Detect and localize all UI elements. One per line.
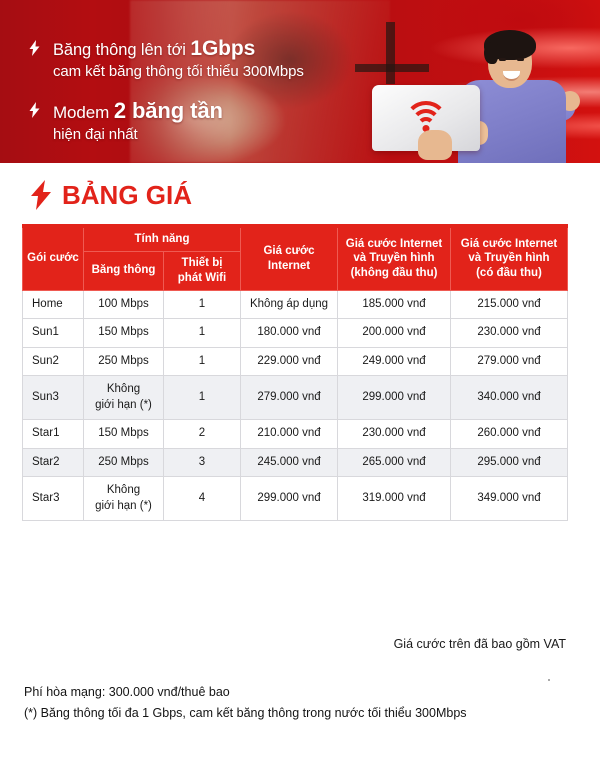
artifact-speck xyxy=(548,679,550,681)
cell-package: Sun1 xyxy=(23,319,84,348)
cell-combo-with-receiver: 215.000 vnđ xyxy=(451,290,568,319)
banner-bullet-2: Modem 2 băng tần hiện đại nhất xyxy=(28,98,358,145)
cell-combo-no-receiver: 299.000 vnđ xyxy=(338,376,451,420)
banner-bullet-2-prefix: Modem xyxy=(53,103,114,122)
cell-bandwidth-line1: 250 Mbps xyxy=(98,456,149,468)
table-row: Sun2250 Mbps1229.000 vnđ249.000 vnđ279.0… xyxy=(23,347,568,376)
column-header-features-group: Tính năng xyxy=(84,226,241,251)
combo-with-receiver-line2: và Truyền hình xyxy=(468,252,549,264)
window-frame-decoration xyxy=(355,22,429,84)
table-row: Star3Khônggiới hạn (*)4299.000 vnđ319.00… xyxy=(23,477,568,521)
column-header-internet-price: Giá cước Internet xyxy=(241,226,338,290)
price-table-body: Home100 Mbps1Không áp dụng185.000 vnđ215… xyxy=(23,290,568,521)
table-row: Star1150 Mbps2210.000 vnđ230.000 vnđ260.… xyxy=(23,420,568,449)
cell-combo-no-receiver: 249.000 vnđ xyxy=(338,347,451,376)
cell-bandwidth: Khônggiới hạn (*) xyxy=(84,477,164,521)
cell-internet-price: 229.000 vnđ xyxy=(241,347,338,376)
table-row: Star2250 Mbps3245.000 vnđ265.000 vnđ295.… xyxy=(23,448,568,477)
banner-bullet-1-prefix: Băng thông lên tới xyxy=(53,41,190,59)
combo-with-receiver-line3: (có đầu thu) xyxy=(476,267,542,279)
cell-internet-price: Không áp dụng xyxy=(241,290,338,319)
cell-combo-no-receiver: 200.000 vnđ xyxy=(338,319,451,348)
price-table-head: Gói cước Tính năng Giá cước Internet Giá… xyxy=(23,226,568,290)
cell-combo-no-receiver: 319.000 vnđ xyxy=(338,477,451,521)
cell-combo-with-receiver: 260.000 vnđ xyxy=(451,420,568,449)
combo-no-receiver-line3: (không đầu thu) xyxy=(351,267,438,279)
column-header-combo-with-receiver: Giá cước Internet và Truyền hình (có đầu… xyxy=(451,226,568,290)
lightning-bolt-icon xyxy=(28,102,40,122)
banner-bullet-1-highlight: 1Gbps xyxy=(190,37,255,60)
column-header-wifi-device-line1: Thiết bị xyxy=(182,257,223,269)
cell-bandwidth: 100 Mbps xyxy=(84,290,164,319)
cell-wifi-device: 1 xyxy=(164,319,241,348)
combo-with-receiver-line1: Giá cước Internet xyxy=(461,238,557,250)
cell-bandwidth-line2: giới hạn (*) xyxy=(95,500,152,512)
column-header-wifi-device-line2: phát Wifi xyxy=(178,272,226,284)
combo-no-receiver-line1: Giá cước Internet xyxy=(346,238,442,250)
column-header-internet-price-line1: Giá cước xyxy=(263,245,314,257)
banner-bullet-2-subtext: hiện đại nhất xyxy=(53,125,358,145)
combo-no-receiver-line2: và Truyền hình xyxy=(353,252,434,264)
cell-combo-with-receiver: 295.000 vnđ xyxy=(451,448,568,477)
cell-internet-price: 210.000 vnđ xyxy=(241,420,338,449)
column-header-bandwidth: Băng thông xyxy=(84,251,164,290)
wifi-icon xyxy=(406,101,446,133)
cell-combo-with-receiver: 340.000 vnđ xyxy=(451,376,568,420)
cell-combo-no-receiver: 265.000 vnđ xyxy=(338,448,451,477)
cell-combo-with-receiver: 279.000 vnđ xyxy=(451,347,568,376)
table-row: Sun3Khônggiới hạn (*)1279.000 vnđ299.000… xyxy=(23,376,568,420)
left-hand xyxy=(418,130,452,160)
cell-combo-no-receiver: 185.000 vnđ xyxy=(338,290,451,319)
cell-bandwidth-line1: 150 Mbps xyxy=(98,427,149,439)
hero-banner: Băng thông lên tới 1Gbps cam kết băng th… xyxy=(0,0,600,163)
cell-bandwidth: 250 Mbps xyxy=(84,347,164,376)
cell-combo-with-receiver: 349.000 vnđ xyxy=(451,477,568,521)
cell-internet-price: 279.000 vnđ xyxy=(241,376,338,420)
cell-wifi-device: 1 xyxy=(164,376,241,420)
cell-wifi-device: 4 xyxy=(164,477,241,521)
cell-combo-no-receiver: 230.000 vnđ xyxy=(338,420,451,449)
banner-bullet-1: Băng thông lên tới 1Gbps cam kết băng th… xyxy=(28,36,358,82)
table-row: Sun1150 Mbps1180.000 vnđ200.000 vnđ230.0… xyxy=(23,319,568,348)
cell-package: Star2 xyxy=(23,448,84,477)
cell-bandwidth: 250 Mbps xyxy=(84,448,164,477)
cell-bandwidth-line1: Không xyxy=(107,383,140,395)
column-header-combo-no-receiver: Giá cước Internet và Truyền hình (không … xyxy=(338,226,451,290)
cell-internet-price: 180.000 vnđ xyxy=(241,319,338,348)
page-title: BẢNG GIÁ xyxy=(30,177,192,213)
price-table: Gói cước Tính năng Giá cước Internet Giá… xyxy=(22,224,568,521)
cell-bandwidth: 150 Mbps xyxy=(84,319,164,348)
vat-note: Giá cước trên đã bao gồm VAT xyxy=(394,637,566,651)
lightning-bolt-icon xyxy=(30,180,52,210)
page-title-text: BẢNG GIÁ xyxy=(62,180,192,211)
cell-package: Star1 xyxy=(23,420,84,449)
cell-wifi-device: 1 xyxy=(164,347,241,376)
cell-package: Sun2 xyxy=(23,347,84,376)
cell-bandwidth: 150 Mbps xyxy=(84,420,164,449)
footer-note-bandwidth-asterisk: (*) Băng thông tối đa 1 Gbps, cam kết bă… xyxy=(24,703,467,724)
cell-combo-with-receiver: 230.000 vnđ xyxy=(451,319,568,348)
banner-text-block: Băng thông lên tới 1Gbps cam kết băng th… xyxy=(28,36,358,161)
column-header-package: Gói cước xyxy=(23,226,84,290)
footer-note-installation-fee: Phí hòa mạng: 300.000 vnđ/thuê bao xyxy=(24,682,467,703)
cell-bandwidth-line1: 100 Mbps xyxy=(98,298,149,310)
cell-internet-price: 245.000 vnđ xyxy=(241,448,338,477)
banner-bullet-1-subtext: cam kết băng thông tối thiểu 300Mbps xyxy=(53,62,358,82)
cell-bandwidth: Khônggiới hạn (*) xyxy=(84,376,164,420)
cell-bandwidth-line2: giới hạn (*) xyxy=(95,399,152,411)
table-header-row-1: Gói cước Tính năng Giá cước Internet Giá… xyxy=(23,226,568,251)
cell-package: Sun3 xyxy=(23,376,84,420)
cell-package: Home xyxy=(23,290,84,319)
lightning-bolt-icon xyxy=(28,40,40,60)
cell-bandwidth-line1: 250 Mbps xyxy=(98,355,149,367)
price-table-container: Gói cước Tính năng Giá cước Internet Giá… xyxy=(22,224,567,521)
cell-package: Star3 xyxy=(23,477,84,521)
column-header-wifi-device: Thiết bị phát Wifi xyxy=(164,251,241,290)
cell-bandwidth-line1: 150 Mbps xyxy=(98,326,149,338)
cell-wifi-device: 2 xyxy=(164,420,241,449)
cell-wifi-device: 3 xyxy=(164,448,241,477)
footer-notes: Phí hòa mạng: 300.000 vnđ/thuê bao (*) B… xyxy=(24,682,467,723)
cell-wifi-device: 1 xyxy=(164,290,241,319)
cell-internet-price: 299.000 vnđ xyxy=(241,477,338,521)
column-header-internet-price-line2: Internet xyxy=(268,260,310,272)
banner-bullet-2-highlight: 2 băng tần xyxy=(114,98,223,123)
cell-bandwidth-line1: Không xyxy=(107,484,140,496)
table-row: Home100 Mbps1Không áp dụng185.000 vnđ215… xyxy=(23,290,568,319)
